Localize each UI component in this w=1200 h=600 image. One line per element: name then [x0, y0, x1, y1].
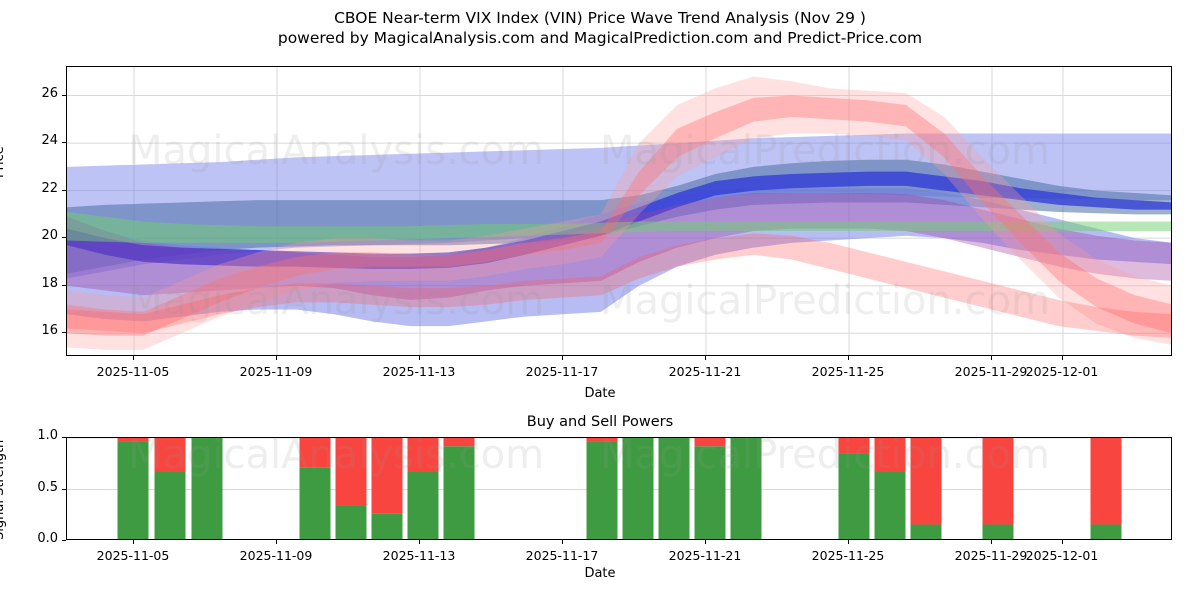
bar-sell-power — [911, 438, 942, 525]
bar-sell-power — [839, 438, 870, 453]
price-x-tick: 2025-11-13 — [359, 364, 479, 379]
price-y-axis-label: Price — [0, 146, 7, 178]
price-y-tickmark — [62, 142, 66, 143]
signal-x-tickmark — [133, 540, 134, 544]
price-x-tickmark — [991, 356, 992, 360]
price-x-tick: 2025-11-21 — [645, 364, 765, 379]
title-line-1: CBOE Near-term VIX Index (VIN) Price Wav… — [0, 8, 1200, 28]
bar-sell-power — [587, 438, 618, 441]
bar-buy-power — [336, 506, 367, 540]
bar-buy-power — [983, 525, 1014, 540]
signal-x-tick: 2025-11-25 — [788, 548, 908, 563]
price-x-tickmark — [276, 356, 277, 360]
price-x-tick: 2025-12-01 — [1002, 364, 1122, 379]
bar-sell-power — [336, 438, 367, 506]
signal-y-tickmark — [62, 489, 66, 490]
signal-chart-plot-area — [66, 437, 1172, 540]
bar-buy-power — [731, 438, 762, 540]
bar-buy-power — [659, 438, 690, 540]
price-y-tick: 24 — [0, 133, 58, 148]
price-x-tickmark — [1062, 356, 1063, 360]
price-y-tickmark — [62, 332, 66, 333]
signal-x-tickmark — [419, 540, 420, 544]
bar-sell-power — [444, 438, 475, 446]
bar-buy-power — [695, 446, 726, 540]
price-x-tickmark — [562, 356, 563, 360]
bar-buy-power — [1091, 525, 1122, 540]
bar-sell-power — [155, 438, 186, 472]
price-y-tick: 20 — [0, 228, 58, 243]
bar-sell-power — [695, 438, 726, 446]
bar-buy-power — [192, 438, 223, 540]
price-y-tickmark — [62, 285, 66, 286]
bar-buy-power — [587, 441, 618, 540]
price-x-axis-label: Date — [0, 386, 1200, 401]
bar-buy-power — [155, 472, 186, 540]
signal-chart-title: Buy and Sell Powers — [0, 414, 1200, 430]
bar-buy-power — [118, 441, 149, 540]
signal-x-tickmark — [1062, 540, 1063, 544]
price-x-tickmark — [705, 356, 706, 360]
signal-y-tickmark — [62, 540, 66, 541]
bar-buy-power — [839, 453, 870, 540]
price-y-tickmark — [62, 190, 66, 191]
price-x-tick: 2025-11-25 — [788, 364, 908, 379]
signal-y-tick: 0.0 — [0, 531, 58, 546]
signal-x-tickmark — [276, 540, 277, 544]
signal-x-tick: 2025-11-21 — [645, 548, 765, 563]
bar-buy-power — [911, 525, 942, 540]
price-x-tick: 2025-11-09 — [216, 364, 336, 379]
bar-sell-power — [372, 438, 403, 513]
bar-buy-power — [875, 472, 906, 540]
price-y-tick: 16 — [0, 323, 58, 338]
signal-x-tick: 2025-11-09 — [216, 548, 336, 563]
signal-y-tickmark — [62, 437, 66, 438]
price-chart-svg — [67, 67, 1172, 356]
signal-chart-svg — [67, 438, 1172, 540]
price-chart-plot-area — [66, 66, 1172, 356]
bar-buy-power — [444, 446, 475, 540]
price-x-tickmark — [848, 356, 849, 360]
signal-x-tickmark — [991, 540, 992, 544]
price-y-tick: 22 — [0, 181, 58, 196]
signal-x-tick: 2025-12-01 — [1002, 548, 1122, 563]
signal-x-axis-label: Date — [0, 566, 1200, 581]
bar-buy-power — [408, 472, 439, 540]
price-x-tick: 2025-11-17 — [502, 364, 622, 379]
price-x-tick: 2025-11-05 — [73, 364, 193, 379]
price-x-tickmark — [133, 356, 134, 360]
signal-x-tick: 2025-11-17 — [502, 548, 622, 563]
signal-x-tickmark — [705, 540, 706, 544]
signal-x-tick: 2025-11-05 — [73, 548, 193, 563]
signal-x-tick: 2025-11-13 — [359, 548, 479, 563]
title-line-2: powered by MagicalAnalysis.com and Magic… — [0, 28, 1200, 48]
bar-sell-power — [875, 438, 906, 472]
signal-x-tickmark — [848, 540, 849, 544]
bar-sell-power — [1091, 438, 1122, 525]
bar-buy-power — [623, 438, 654, 540]
price-y-tickmark — [62, 95, 66, 96]
bar-buy-power — [300, 468, 331, 540]
chart-title: CBOE Near-term VIX Index (VIN) Price Wav… — [0, 8, 1200, 48]
bar-sell-power — [983, 438, 1014, 525]
chart-root: CBOE Near-term VIX Index (VIN) Price Wav… — [0, 0, 1200, 600]
bar-sell-power — [118, 438, 149, 441]
price-y-tick: 18 — [0, 276, 58, 291]
signal-y-tick: 0.5 — [0, 480, 58, 495]
bar-sell-power — [408, 438, 439, 472]
price-y-tickmark — [62, 237, 66, 238]
bar-sell-power — [300, 438, 331, 468]
price-x-tickmark — [419, 356, 420, 360]
bar-buy-power — [372, 513, 403, 540]
signal-x-tickmark — [562, 540, 563, 544]
signal-y-tick: 1.0 — [0, 428, 58, 443]
price-y-tick: 26 — [0, 86, 58, 101]
